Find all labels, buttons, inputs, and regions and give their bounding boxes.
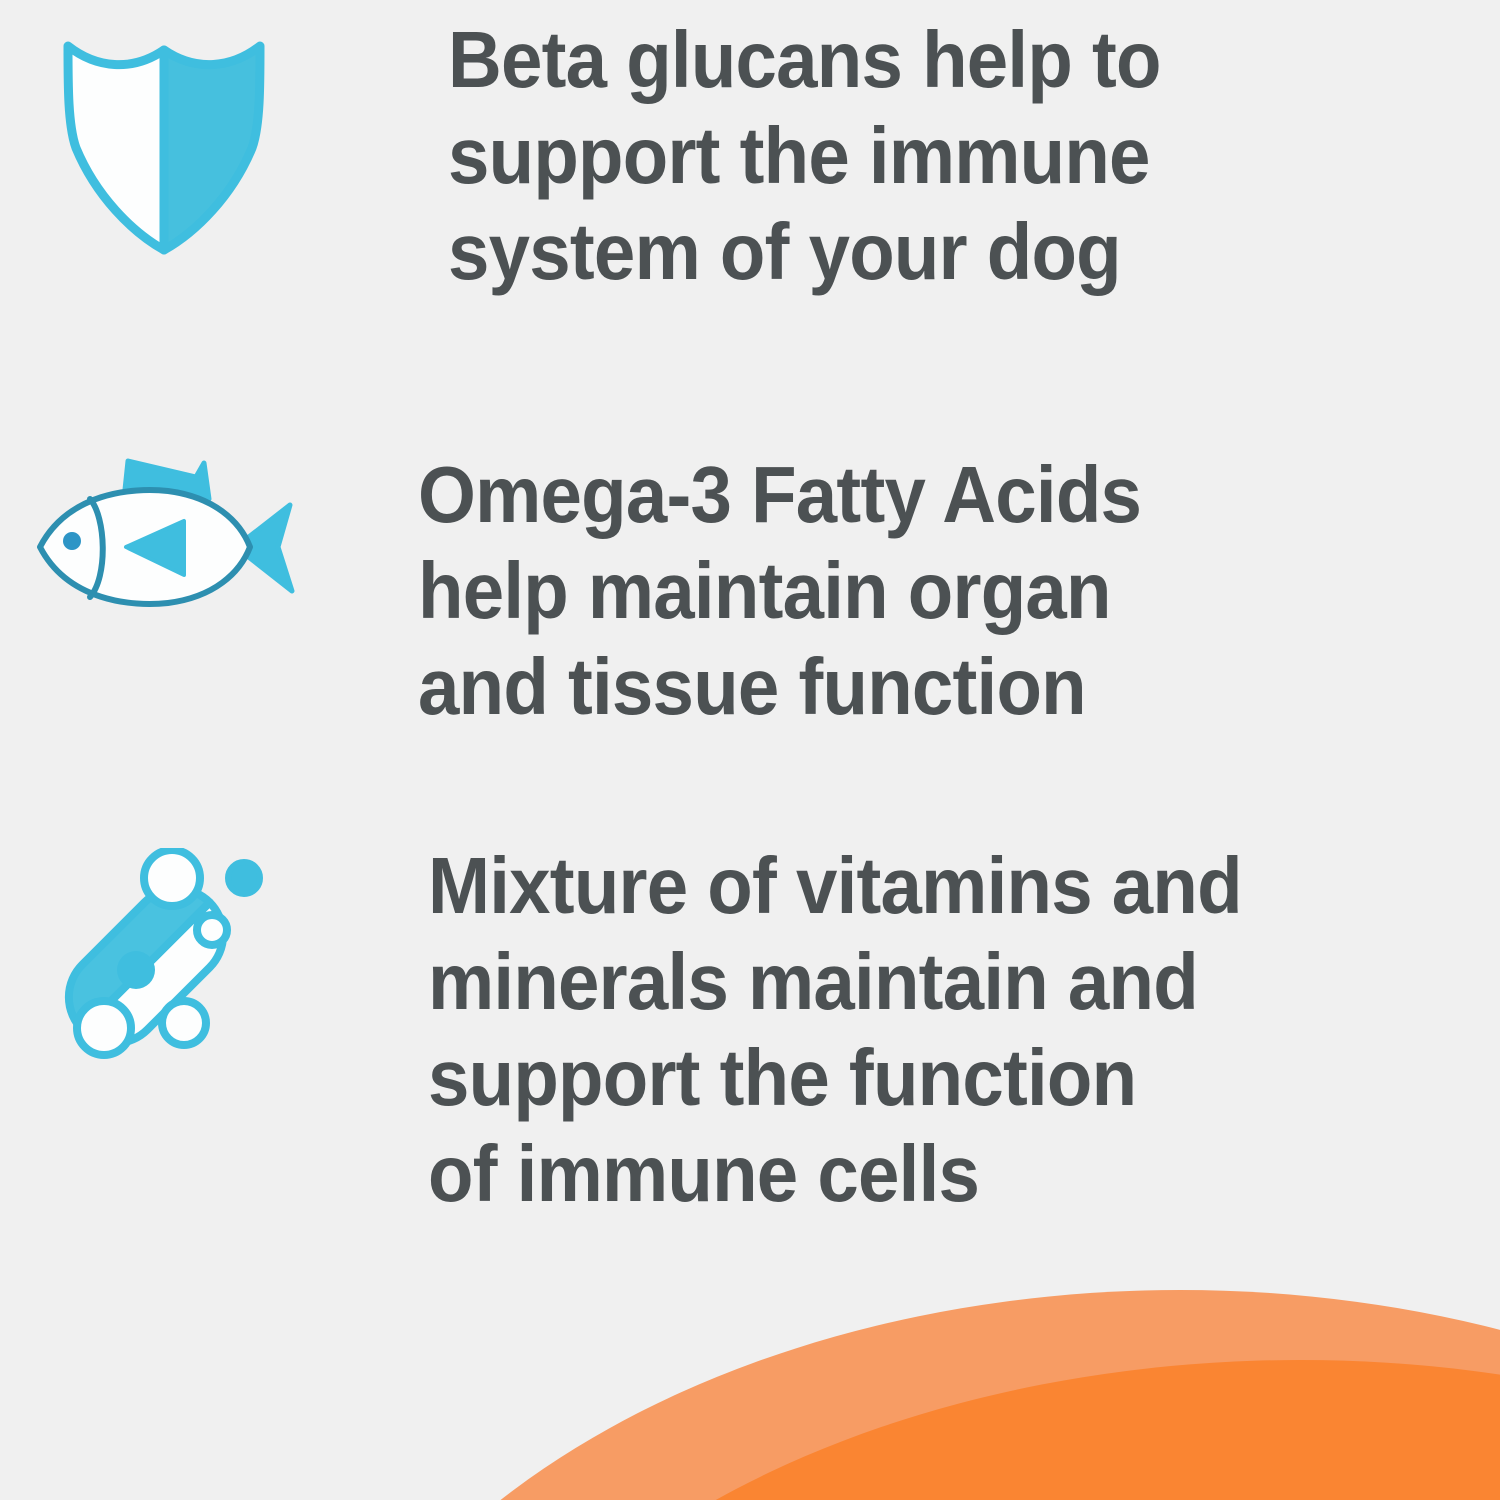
- benefit-row-omega3: Omega-3 Fatty Acids help maintain organ …: [0, 425, 1500, 735]
- benefit-row-beta-glucans: Beta glucans help to support the immune …: [0, 20, 1500, 300]
- fish-icon: [28, 455, 318, 645]
- capsule-icon: [38, 848, 278, 1088]
- wave-inner-arc: [410, 1360, 1500, 1500]
- benefit-text-beta-glucans: Beta glucans help to support the immune …: [448, 12, 1426, 300]
- benefit-text-omega3: Omega-3 Fatty Acids help maintain organ …: [418, 447, 1424, 735]
- benefit-text-vitamins: Mixture of vitamins and minerals maintai…: [428, 838, 1425, 1222]
- benefit-row-vitamins: Mixture of vitamins and minerals maintai…: [0, 820, 1500, 1222]
- benefit-icon-cell: [0, 20, 448, 265]
- benefit-icon-cell: [0, 820, 428, 1088]
- shield-icon: [58, 28, 270, 265]
- wave-outer-arc: [280, 1290, 1500, 1500]
- benefit-icon-cell: [0, 425, 418, 645]
- product-benefits-panel: Beta glucans help to support the immune …: [0, 0, 1500, 1500]
